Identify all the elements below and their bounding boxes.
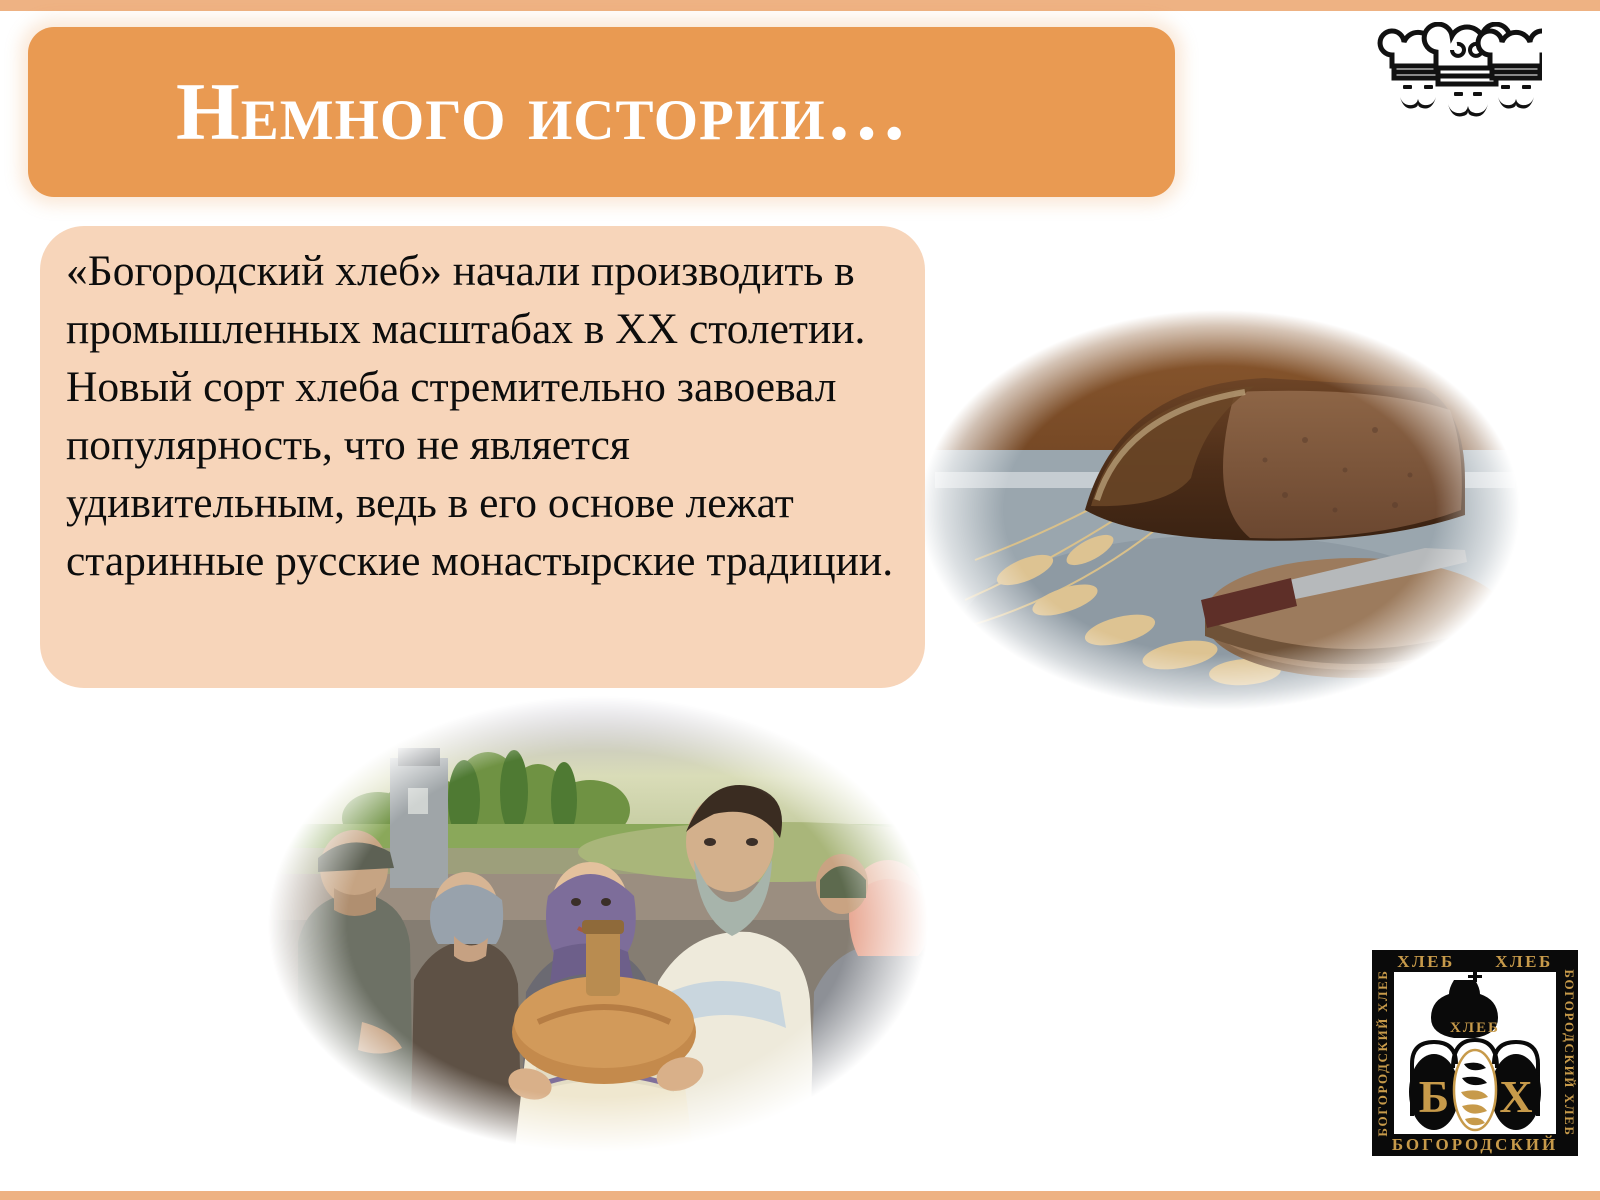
logo-word-top-right: ХЛЕБ [1495, 952, 1553, 971]
three-chef-hats-icon [1374, 22, 1542, 118]
logo-word-dome: ХЛЕБ [1450, 1020, 1500, 1036]
presentation-slide: Немного истории… [0, 0, 1600, 1200]
bread-photo [905, 300, 1535, 720]
top-accent-rail [0, 0, 1600, 11]
logo-word-right-side: БОГОРОДСКИЙ ХЛЕБ [1562, 969, 1577, 1136]
brand-logo-bogorodsky-hleb: ХЛЕБ ХЛЕБ БОГОРОДСКИЙ БОГОРОДСКИЙ ХЛЕБ Б… [1368, 946, 1582, 1160]
painting-bread-and-salt [238, 692, 958, 1157]
logo-monogram-right: Х [1499, 1071, 1532, 1122]
bottom-accent-rail [0, 1191, 1600, 1200]
logo-word-bottom: БОГОРОДСКИЙ [1392, 1135, 1558, 1154]
body-text-card: «Богородский хлеб» начали производить в … [40, 226, 925, 688]
title-banner: Немного истории… [28, 27, 1175, 197]
body-paragraph: «Богородский хлеб» начали производить в … [66, 242, 903, 590]
page-title: Немного истории… [176, 71, 909, 153]
logo-monogram-left: Б [1419, 1071, 1449, 1122]
logo-word-top-left: ХЛЕБ [1397, 952, 1455, 971]
logo-word-left-side: БОГОРОДСКИЙ ХЛЕБ [1375, 969, 1390, 1136]
